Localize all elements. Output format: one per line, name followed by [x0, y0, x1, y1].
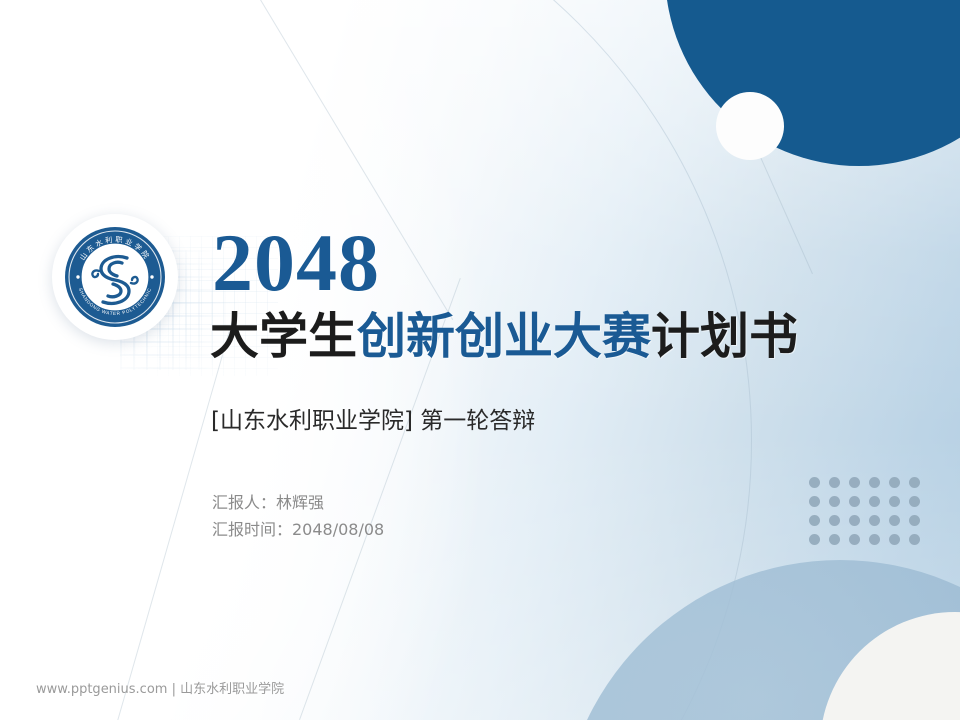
grid-dot [849, 515, 860, 526]
decorative-dot-grid [809, 477, 929, 553]
grid-dot [829, 515, 840, 526]
grid-dot [809, 515, 820, 526]
grid-dot [889, 496, 900, 507]
grid-dot [909, 534, 920, 545]
page-title: 大学生创新创业大赛计划书 [210, 308, 798, 366]
grid-dot [869, 477, 880, 488]
grid-dot [869, 534, 880, 545]
grid-dot [849, 496, 860, 507]
grid-dot [909, 496, 920, 507]
grid-dot [809, 477, 820, 488]
grid-dot [889, 477, 900, 488]
grid-dot [869, 496, 880, 507]
presentation-slide: 山东水利职业学院 SHANDONG WATER POLYTECHNIC 2048… [0, 0, 960, 720]
school-logo-badge: 山东水利职业学院 SHANDONG WATER POLYTECHNIC [52, 214, 178, 340]
grid-dot [909, 515, 920, 526]
presentation-meta: 汇报人：林辉强 汇报时间：2048/08/08 [212, 489, 384, 543]
grid-dot [829, 534, 840, 545]
grid-dot [849, 477, 860, 488]
grid-dot [809, 534, 820, 545]
subtitle: [山东水利职业学院] 第一轮答辩 [211, 405, 535, 437]
grid-dot [809, 496, 820, 507]
year-heading: 2048 [212, 222, 380, 304]
grid-dot [829, 496, 840, 507]
title-tail: 计划书 [651, 308, 798, 365]
grid-dot [849, 534, 860, 545]
footer-credit: www.pptgenius.com | 山东水利职业学院 [36, 681, 284, 699]
title-accent: 创新创业大赛 [357, 308, 651, 365]
title-lead: 大学生 [210, 308, 357, 365]
grid-dot [889, 534, 900, 545]
grid-dot [829, 477, 840, 488]
grid-dot [889, 515, 900, 526]
grid-dot [869, 515, 880, 526]
grid-dot [909, 477, 920, 488]
presenter-line: 汇报人：林辉强 [212, 489, 384, 516]
decorative-white-dot-circle [716, 92, 784, 160]
date-line: 汇报时间：2048/08/08 [212, 516, 384, 543]
shandong-water-polytechnic-logo-icon: 山东水利职业学院 SHANDONG WATER POLYTECHNIC [63, 225, 167, 329]
